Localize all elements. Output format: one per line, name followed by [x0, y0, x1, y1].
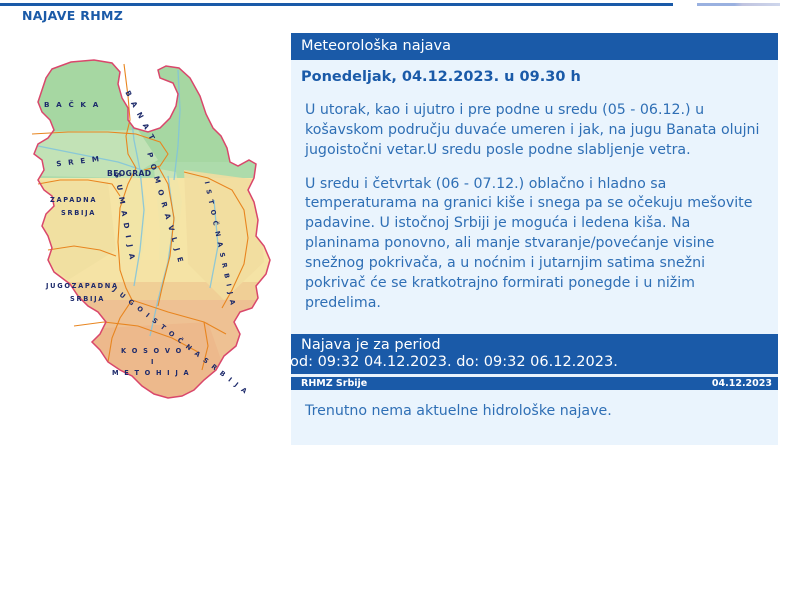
map-label-zapadna-srbija-2: SRBIJA [61, 209, 96, 217]
map-label-zapadna-srbija-1: ZAPADNA [50, 196, 97, 204]
validity-period-title: Najava je za period [291, 337, 778, 354]
spacer [291, 60, 778, 68]
source-label: RHMZ Srbije [301, 377, 367, 390]
map-label-jugozapadna-srbija-2: SRBIJA [70, 295, 105, 303]
top-divider-rule [0, 3, 673, 6]
map-of-serbia-regions: B A Č K A B A N A T S R E M BEOGRAD ZAPA… [8, 50, 288, 420]
issue-datetime: Ponedeljak, 04.12.2023. u 09.30 h [291, 68, 778, 87]
meteo-header-bar: Meteorološka najava [291, 33, 778, 60]
map-label-kosovo-2: I [151, 358, 155, 366]
source-bar: RHMZ Srbije 04.12.2023 [291, 377, 778, 390]
map-label-backa: B A Č K A [44, 100, 100, 109]
top-divider-rule-secondary [697, 3, 780, 6]
validity-period-block: Najava je za period od: 09:32 04.12.2023… [291, 334, 778, 374]
forecast-paragraph-2: U sredu i četvrtak (06 - 07.12.) oblačno… [291, 175, 778, 314]
map-label-jugozapadna-srbija-1: JUGOZAPADNA [45, 282, 119, 290]
page-title: NAJAVE RHMZ [22, 8, 123, 23]
spacer [291, 87, 778, 101]
spacer [291, 314, 778, 328]
hydrology-note: Trenutno nema aktuelne hidrološke najave… [291, 390, 778, 422]
spacer [291, 161, 778, 175]
validity-period-range: od: 09:32 04.12.2023. do: 09:32 06.12.20… [289, 354, 778, 371]
source-date: 04.12.2023 [712, 377, 772, 390]
forecast-paragraph-1: U utorak, kao i ujutro i pre podne u sre… [291, 101, 778, 161]
map-label-kosovo-3: M E T O H I J A [112, 369, 190, 377]
announcement-panel: Meteorološka najava Ponedeljak, 04.12.20… [291, 33, 778, 445]
map-label-kosovo-1: K O S O V O [121, 347, 183, 355]
